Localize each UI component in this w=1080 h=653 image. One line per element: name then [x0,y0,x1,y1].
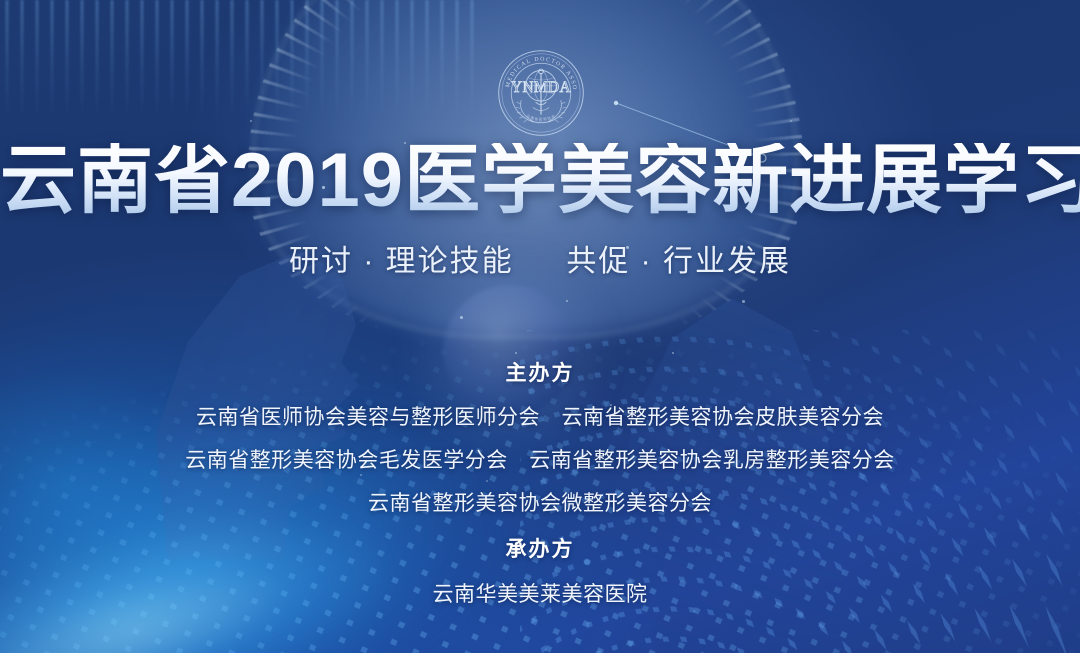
poster-canvas: YUNNAN MEDICAL DOCTOR ASSOCIATION 云南省医师协… [0,0,1080,653]
poster-text-content: 云南省2019医学美容新进展学习班 研讨 · 理论技能 共促 · 行业发展 主办… [0,0,1080,653]
organizer-line-1: 云南华美美莱美容医院 [0,578,1080,608]
host-line-2: 云南省整形美容协会毛发医学分会 云南省整形美容协会乳房整形美容分会 [0,444,1080,474]
page-subtitle: 研讨 · 理论技能 共促 · 行业发展 [0,236,1080,280]
organizer-heading: 承办方 [0,533,1080,563]
organizer-section: 承办方 云南华美美莱美容医院 [0,533,1080,608]
host-section: 主办方 云南省医师协会美容与整形医师分会 云南省整形美容协会皮肤美容分会 云南省… [0,357,1080,517]
page-title: 云南省2019医学美容新进展学习班 [0,143,1080,219]
host-line-1: 云南省医师协会美容与整形医师分会 云南省整形美容协会皮肤美容分会 [0,401,1080,431]
host-line-3: 云南省整形美容协会微整形美容分会 [0,487,1080,517]
host-heading: 主办方 [0,357,1080,387]
